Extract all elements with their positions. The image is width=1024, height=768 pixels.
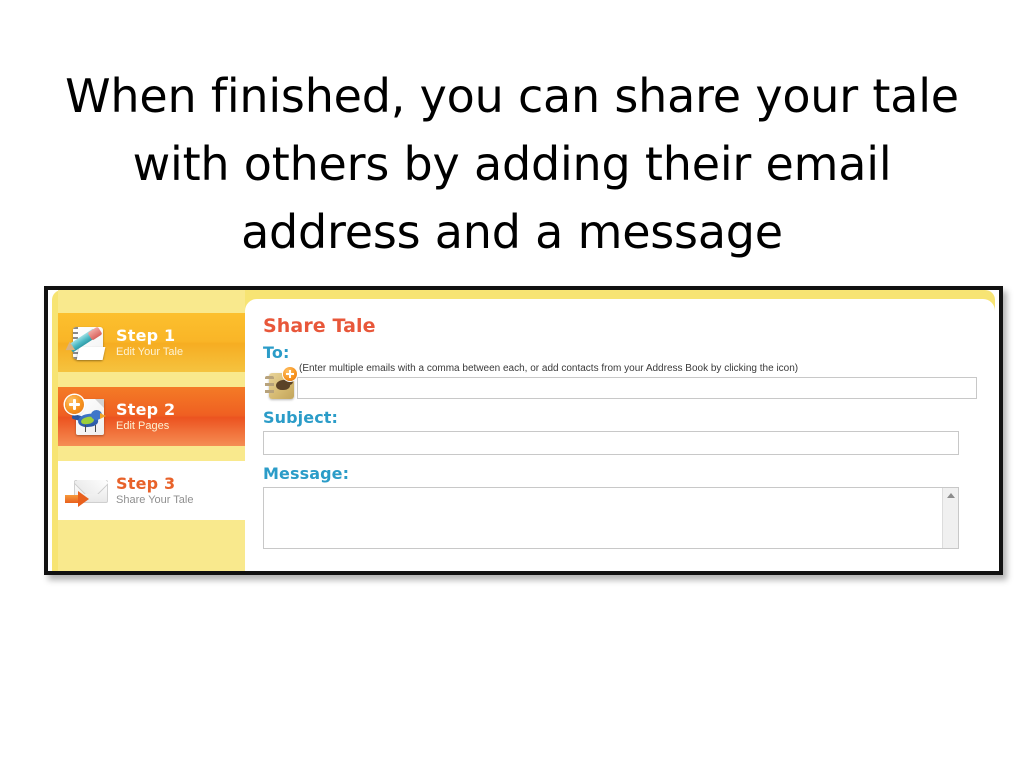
step-sidebar: Step 1 Edit Your Tale S [58,290,245,571]
message-label: Message: [263,464,977,483]
to-input[interactable] [297,377,977,399]
step-1-text: Step 1 Edit Your Tale [116,328,183,358]
step-2-title: Step 2 [116,402,175,418]
subject-label: Subject: [263,408,977,427]
app-window: Step 1 Edit Your Tale S [48,290,999,571]
step-1-subtitle: Edit Your Tale [116,347,183,358]
envelope-arrow-icon [64,468,110,514]
sidebar-item-step-3[interactable]: Step 3 Share Your Tale [58,461,245,520]
page-bird-plus-icon [64,394,110,440]
embedded-screenshot-frame: Step 1 Edit Your Tale S [44,286,1003,575]
step-3-subtitle: Share Your Tale [116,495,193,506]
sidebar-bottom-filler [58,520,245,571]
step-3-title: Step 3 [116,476,193,492]
page-title: When finished, you can share your tale w… [50,62,974,266]
to-hint-text: (Enter multiple emails with a comma betw… [299,363,977,374]
step-2-text: Step 2 Edit Pages [116,402,175,432]
message-field-wrapper [263,487,959,554]
panel-title: Share Tale [263,315,977,337]
step-1-title: Step 1 [116,328,183,344]
address-book-add-icon[interactable] [263,367,297,401]
sidebar-item-step-2[interactable]: Step 2 Edit Pages [58,387,245,446]
message-scrollbar[interactable] [942,488,958,548]
to-field-row: (Enter multiple emails with a comma betw… [263,363,977,401]
to-field-column: (Enter multiple emails with a comma betw… [297,363,977,399]
scroll-up-arrow-icon[interactable] [943,488,958,502]
message-input[interactable] [263,487,959,549]
subject-input[interactable] [263,431,959,455]
share-tale-panel: Share Tale To: (Enter multiple emails wi… [245,299,995,571]
to-label: To: [263,343,977,362]
plus-badge-icon [65,395,84,414]
sidebar-item-step-1[interactable]: Step 1 Edit Your Tale [58,313,245,372]
notepad-pencil-icon [64,320,110,366]
step-3-text: Step 3 Share Your Tale [116,476,193,506]
step-2-subtitle: Edit Pages [116,421,175,432]
